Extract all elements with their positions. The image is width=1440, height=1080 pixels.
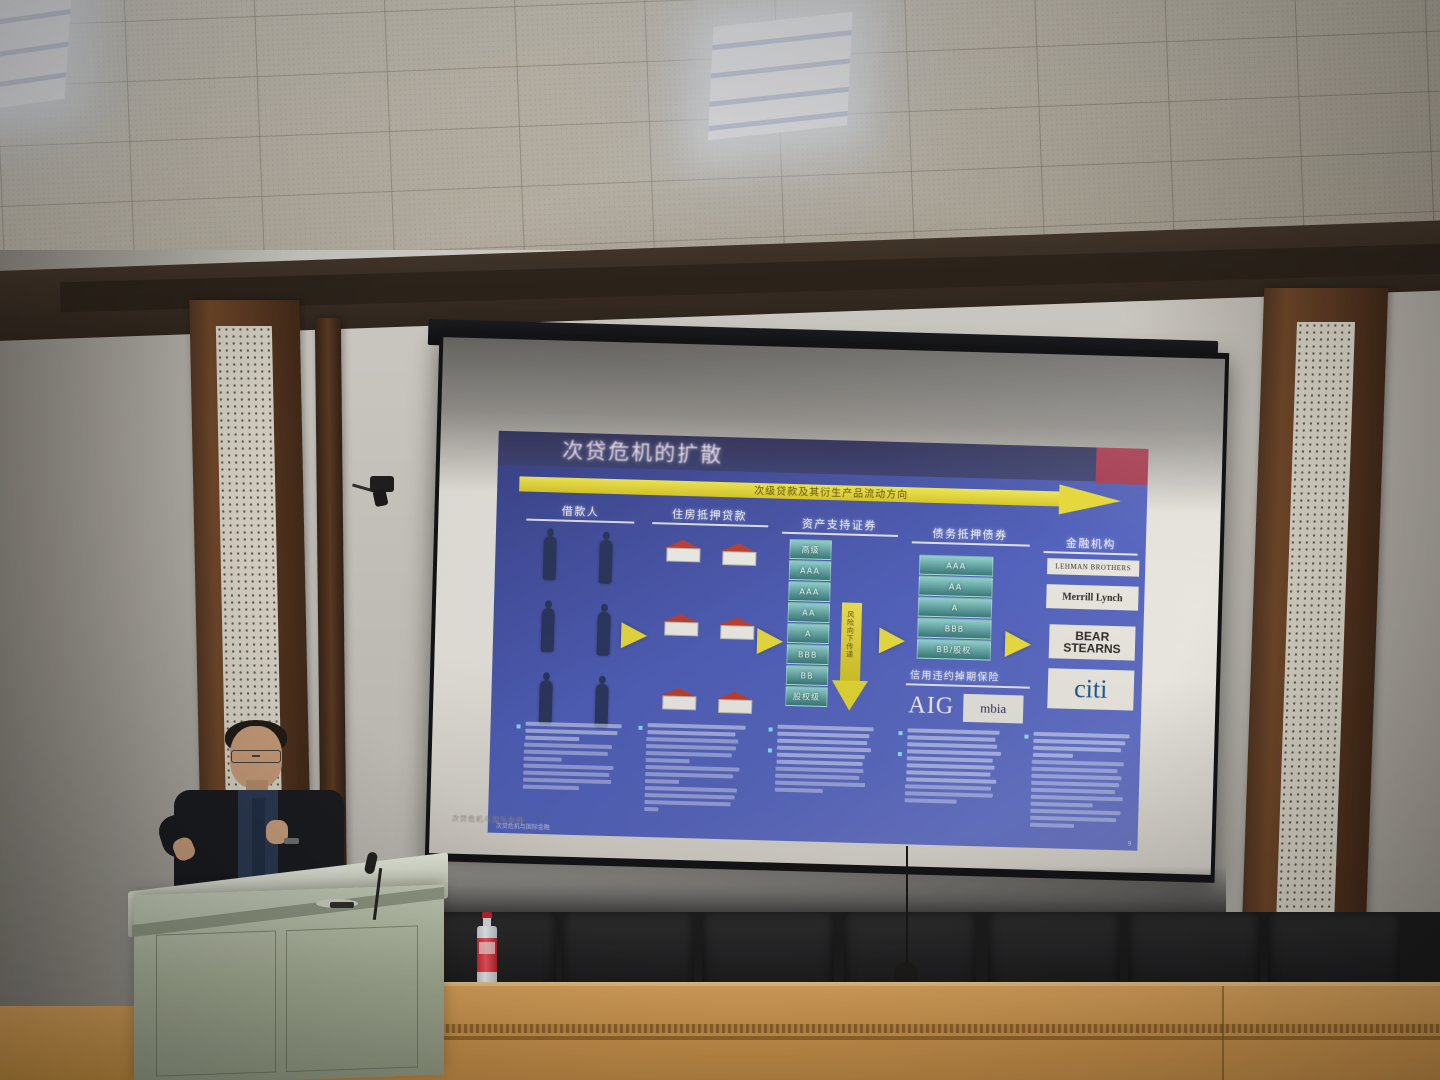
lectern-panel-left [156, 930, 276, 1076]
slide-text-column-1 [515, 721, 627, 794]
mortgage-house-icon [659, 687, 698, 708]
borrower-figure [595, 684, 609, 728]
borrower-figure [543, 536, 557, 580]
tranche-segment: 股权级 [785, 686, 828, 707]
slide-page-number: 9 [1128, 840, 1132, 847]
borrower-figure [539, 680, 553, 724]
arrow-cdo-to-institutions [1005, 631, 1032, 658]
tranche-segment: AA [918, 576, 993, 598]
tranche-segment: BB [786, 665, 829, 686]
column-header-cdo: 债务抵押债券 [914, 524, 1026, 543]
abs-tranche-stack: 高级 AAA AAA AA A BBB BB 股权级 [785, 539, 832, 708]
column-header-abs: 资产支持证券 [784, 515, 894, 534]
screen-surface: 次贷危机的扩散 次级贷款及其衍生产品流动方向 借款人 住房抵押贷款 资产支持证券… [429, 337, 1225, 875]
tranche-segment: AA [788, 602, 831, 623]
table-microphone-stem [906, 846, 908, 980]
text-bullet [516, 721, 626, 742]
desk-panel-seam [1222, 986, 1224, 1080]
tranche-segment: AAA [789, 560, 832, 581]
glasses-icon [231, 750, 281, 763]
down-arrow-label: 风险向下传递 [845, 611, 856, 659]
lectern-panel-right [286, 925, 418, 1072]
desk-molding-lower [272, 1036, 1440, 1040]
wood-pillar-right [1240, 288, 1388, 988]
text-bullet [638, 723, 748, 737]
desk-molding [272, 1024, 1440, 1033]
slide-text-column-3 [767, 724, 879, 797]
tranche-segment: BBB [917, 618, 992, 640]
down-arrow-head [831, 680, 868, 711]
slide-accent-block [1096, 447, 1149, 484]
borrower-figure [541, 608, 555, 652]
tranche-segment: A [918, 597, 993, 619]
text-bullet [898, 728, 1008, 749]
tranche-segment: A [787, 623, 830, 644]
arrow-borrowers-to-mortgages [621, 622, 648, 649]
front-desk [272, 986, 1440, 1080]
mortgage-house-icon [661, 613, 700, 634]
arrow-head [1059, 484, 1122, 516]
text-bullet [768, 724, 878, 745]
lehman-brothers-logo: LEHMAN BROTHERS [1047, 558, 1139, 577]
text-bullet [768, 745, 878, 766]
citi-logo: citi [1047, 668, 1134, 710]
tranche-segment: BBB [786, 644, 829, 665]
tranche-segment: AAA [919, 555, 994, 577]
cds-label: 信用违约掉期保险 [910, 666, 1000, 683]
bear-stearns-logo: BEAR STEARNS [1049, 624, 1136, 660]
tranche-segment: BB/股权 [917, 639, 992, 661]
column-header-institutions: 金融机构 [1044, 534, 1138, 553]
presentation-slide: 次贷危机的扩散 次级贷款及其衍生产品流动方向 借款人 住房抵押贷款 资产支持证券… [488, 431, 1149, 851]
table-microphone-base [894, 962, 918, 984]
column-header-borrowers: 借款人 [530, 502, 630, 521]
borrower-figure [597, 612, 611, 656]
projection-screen: 次贷危机的扩散 次级贷款及其衍生产品流动方向 借款人 住房抵押贷款 资产支持证券… [425, 331, 1229, 883]
cdo-tranche-stack: AAA AA A BBB BB/股权 [917, 555, 994, 662]
column-header-mortgages: 住房抵押贷款 [654, 505, 764, 524]
slide-text-column-4 [896, 728, 1008, 808]
perforated-acoustic-panel [1275, 322, 1355, 962]
tranche-segment: AAA [788, 581, 831, 602]
slide-title: 次贷危机的扩散 [562, 435, 724, 469]
merrill-lynch-logo: Merrill Lynch [1046, 584, 1139, 611]
mortgage-house-icon [719, 543, 758, 564]
arrow-abs-to-cdo [879, 627, 906, 654]
risk-down-arrow: 风险向下传递 [839, 602, 862, 711]
borrower-figure [599, 540, 613, 584]
tranche-segment: 高级 [789, 539, 832, 560]
mortgage-house-icon [717, 617, 756, 638]
presentation-clicker [330, 902, 354, 908]
screen-bottom-text: 次贷危机与国际金融 [452, 814, 524, 826]
water-bottle [477, 912, 497, 984]
text-bullet [1024, 732, 1135, 760]
mortgage-house-icon [663, 539, 702, 560]
slide-text-column-5 [1022, 732, 1135, 833]
mbia-logo: mbia [963, 694, 1024, 724]
lecture-hall-photo: 次贷危机的扩散 次级贷款及其衍生产品流动方向 借款人 住房抵押贷款 资产支持证券… [0, 0, 1440, 1080]
slide-text-column-2 [636, 723, 748, 817]
arrow-mortgages-to-abs [757, 628, 784, 655]
speaker-watch [284, 838, 299, 844]
mortgage-house-icon [715, 691, 754, 712]
aig-logo: AIG [901, 690, 962, 722]
bottle-label-highlight [479, 942, 495, 954]
text-bullet [897, 749, 1008, 784]
